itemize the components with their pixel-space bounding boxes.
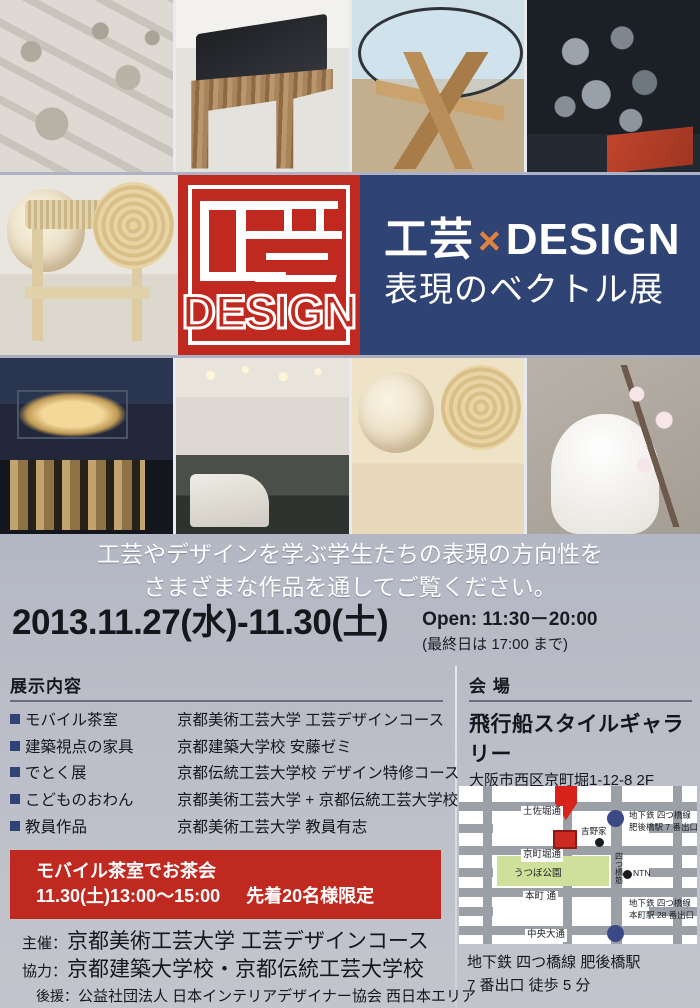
venue-rule — [469, 700, 692, 702]
logo-kogei-mark — [200, 197, 338, 293]
square-bullet-icon — [10, 767, 20, 777]
exhibit-name: モバイル茶室 — [25, 708, 177, 735]
exhibit-org: 京都伝統工芸大学校 デザイン特修コース — [177, 761, 460, 788]
photo-strip-top — [0, 0, 700, 172]
map-road-chuo — [459, 926, 697, 935]
photo-strip-bottom — [0, 358, 700, 534]
map-label-chuo: 中央大通 — [525, 929, 567, 942]
photo-wooden-bowls — [352, 358, 525, 534]
poster-subtitle: 表現のベクトル展 — [384, 269, 700, 312]
opening-hours-block: Open: 11:30－20:00 (最終日は 17:00 まで) — [422, 600, 597, 654]
logo-kogei-design: DESIGN — [178, 175, 360, 355]
opening-hours-note: (最終日は 17:00 まで) — [422, 633, 597, 654]
list-item: こどものおわん 京都美術工芸大学 + 京都伝統工芸大学校 — [10, 788, 443, 815]
map-label-yotsubashi: 四つ橋筋 — [613, 852, 624, 900]
map-label-honmachi: 本町 通 — [523, 891, 558, 904]
credit-cooperation-label: 協力： — [22, 963, 67, 980]
exhibit-name: でとく展 — [25, 761, 177, 788]
exhibit-org: 京都建築大学校 安藤ゼミ — [177, 735, 352, 762]
photo-stool — [0, 175, 178, 355]
map-station-higobashi-icon — [607, 810, 624, 827]
exhibit-name: こどものおわん — [25, 788, 177, 815]
title-band: DESIGN 工芸×DESIGN 表現のベクトル展 — [0, 175, 700, 355]
schedule-row: 2013.11.27(水)-11.30(土) Open: 11:30－20:00… — [0, 600, 700, 662]
list-item: 建築視点の家具 京都建築大学校 安藤ゼミ — [10, 735, 443, 762]
map-label-ntn: NTN — [633, 868, 650, 879]
tea-event-details: 11.30(土)13:00〜15:00先着20名様限定 — [36, 884, 441, 909]
credit-cooperation-value: 京都建築大学校・京都伝統工芸大学校 — [67, 958, 424, 981]
exhibits-list: モバイル茶室 京都美術工芸大学 工芸デザインコース 建築視点の家具 京都建築大学… — [10, 708, 443, 841]
exhibit-org: 京都美術工芸大学 教員有志 — [177, 815, 367, 842]
credit-organizer-label: 主催： — [22, 935, 67, 952]
title-main-left: 工芸 — [384, 215, 474, 264]
exhibit-name: 教員作品 — [25, 815, 177, 842]
credit-cooperation: 協力：京都建築大学校・京都伝統工芸大学校 — [10, 956, 443, 984]
list-item: 教員作品 京都美術工芸大学 教員有志 — [10, 815, 443, 842]
access-line-1: 地下鉄 四つ橋線 肥後橋駅 — [467, 952, 640, 975]
credit-organizer-value: 京都美術工芸大学 工芸デザインコース — [67, 930, 429, 953]
square-bullet-icon — [10, 821, 20, 831]
lead-line-1: 工芸やデザインを学ぶ学生たちの表現の方向性を — [0, 538, 700, 571]
venue-column: 会 場 飛行船スタイルギャラリー 大阪市西区京町堀1-12-8 2F 06-64… — [457, 666, 700, 1008]
map-site-marker — [553, 830, 577, 849]
exhibition-dates: 2013.11.27(水)-11.30(土) — [0, 600, 388, 646]
credit-support: 後援：公益社団法人 日本インテリアデザイナー協会 西日本エリア — [10, 986, 443, 1008]
map-label-kyomachibori: 京町堀通 — [521, 849, 563, 862]
photo-concrete-stones — [0, 0, 173, 172]
square-bullet-icon — [10, 741, 20, 751]
list-item: でとく展 京都伝統工芸大学校 デザイン特修コース — [10, 761, 443, 788]
list-item: モバイル茶室 京都美術工芸大学 工芸デザインコース — [10, 708, 443, 735]
title-cross-icon: × — [474, 220, 506, 263]
access-line-2: 7 番出口 徒歩 5 分 — [467, 975, 640, 998]
credit-support-value: 公益社団法人 日本インテリアデザイナー協会 西日本エリア — [78, 988, 476, 1005]
exhibit-org: 京都美術工芸大学 工芸デザインコース — [177, 708, 444, 735]
map-road-kyomachibori — [459, 846, 697, 855]
map-station-honmachi-icon — [607, 925, 624, 942]
map-label-honmachi-exit-1: 地下鉄 四つ橋線 — [629, 898, 691, 909]
poster-root: DESIGN 工芸×DESIGN 表現のベクトル展 工芸やデザインを学ぶ学生たち… — [0, 0, 700, 1008]
exhibit-org: 京都美術工芸大学 + 京都伝統工芸大学校 — [177, 788, 458, 815]
map-label-higobashi-exit-1: 地下鉄 四つ橋線 — [629, 810, 691, 821]
lead-line-2: さまざまな作品を通してご覧ください。 — [0, 571, 700, 604]
venue-name: 飛行船スタイルギャラリー — [469, 708, 692, 768]
map-road-honmachi — [459, 888, 697, 897]
photo-wood-bench — [176, 0, 349, 172]
exhibits-rule — [10, 700, 443, 702]
tea-event-time: 11.30(土)13:00〜15:00 — [36, 886, 220, 906]
credit-support-label: 後援： — [36, 988, 78, 1004]
photo-gallery-interior — [176, 358, 349, 534]
map-dot-yoshinoya-icon — [595, 838, 604, 847]
square-bullet-icon — [10, 794, 20, 804]
venue-heading: 会 場 — [469, 672, 692, 700]
opening-hours: Open: 11:30－20:00 — [422, 604, 597, 631]
tea-event-limit: 先着20名様限定 — [246, 886, 374, 906]
credit-organizer: 主催：京都美術工芸大学 工芸デザインコース — [10, 928, 443, 956]
map-label-park: うつぼ公園 — [514, 868, 562, 881]
details-columns: 展示内容 モバイル茶室 京都美術工芸大学 工芸デザインコース 建築視点の家具 京… — [0, 666, 700, 1008]
map-label-yoshinoya: 吉野家 — [581, 826, 607, 837]
tea-ceremony-box: モバイル茶室でお茶会 11.30(土)13:00〜15:00先着20名様限定 — [10, 850, 441, 918]
logo-design-text: DESIGN — [178, 284, 360, 339]
credits-block: 主催：京都美術工芸大学 工芸デザインコース 協力：京都建築大学校・京都伝統工芸大… — [10, 928, 443, 1008]
map-label-higobashi-exit-2: 肥後橋駅 7 番出口 — [629, 822, 697, 833]
title-main-right: DESIGN — [506, 215, 681, 264]
exhibits-column: 展示内容 モバイル茶室 京都美術工芸大学 工芸デザインコース 建築視点の家具 京… — [0, 666, 455, 1008]
photo-white-cat — [527, 358, 700, 534]
location-map[interactable]: 土佐堀通 京町堀通 本町 通 中央大通 四つ橋筋 うつぼ公園 吉野家 NTN 地… — [459, 786, 697, 944]
photo-glass-table — [352, 0, 525, 172]
map-label-tosabori: 土佐堀通 — [521, 806, 563, 819]
exhibit-name: 建築視点の家具 — [25, 735, 177, 762]
poster-title: 工芸×DESIGN — [384, 218, 700, 263]
map-road-vert-1 — [483, 786, 492, 944]
photo-shop-facade — [0, 358, 173, 534]
lead-copy: 工芸やデザインを学ぶ学生たちの表現の方向性を さまざまな作品を通してご覧ください… — [0, 538, 700, 603]
photo-dark-panel-vase — [527, 0, 700, 172]
map-dot-ntn-icon — [623, 870, 632, 879]
access-info: 地下鉄 四つ橋線 肥後橋駅 7 番出口 徒歩 5 分 — [467, 952, 640, 997]
tea-event-title: モバイル茶室でお茶会 — [36, 859, 441, 883]
exhibits-heading: 展示内容 — [10, 672, 443, 700]
title-panel: 工芸×DESIGN 表現のベクトル展 — [360, 175, 700, 355]
square-bullet-icon — [10, 714, 20, 724]
map-label-honmachi-exit-2: 本町駅 28 番出口 — [629, 910, 694, 921]
